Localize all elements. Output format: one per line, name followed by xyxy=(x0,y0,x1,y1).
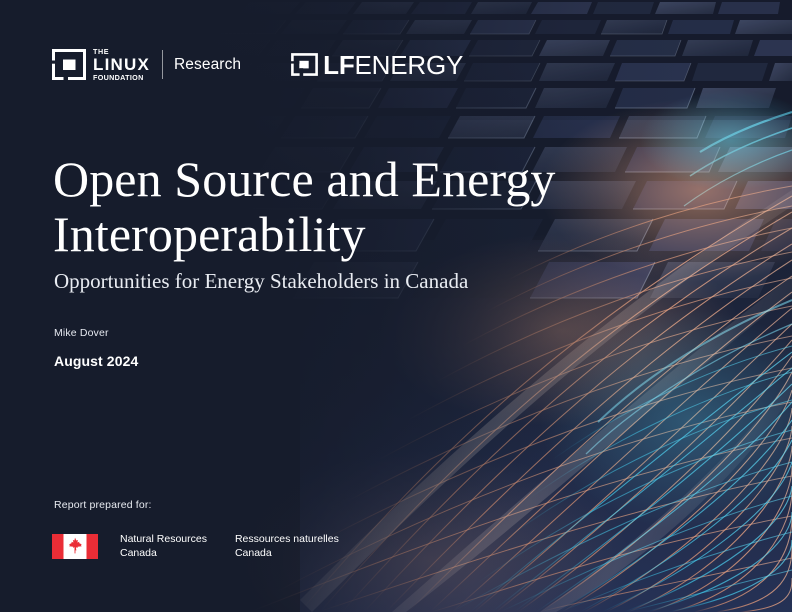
organization-en-line-1: Natural Resources xyxy=(120,533,207,547)
organization-fr-line-1: Ressources naturelles xyxy=(235,533,339,547)
prepared-for-label: Report prepared for: xyxy=(54,499,152,511)
lf-energy-word-energy: ENERGY xyxy=(355,50,464,80)
author-name: Mike Dover xyxy=(54,327,109,339)
page-title: Open Source and Energy Interoperability xyxy=(53,152,673,262)
canada-flag-icon xyxy=(52,534,98,559)
lf-energy-wordmark: LFENERGY xyxy=(323,52,463,78)
title-line-2: Interoperability xyxy=(53,206,366,262)
lf-energy-word-lf: LF xyxy=(323,50,354,80)
logo-row: THE LINUX FOUNDATION Research LFENERGY xyxy=(52,48,463,81)
linux-foundation-wordmark: THE LINUX FOUNDATION xyxy=(93,48,150,81)
government-of-canada-signature: Natural Resources Canada Ressources natu… xyxy=(52,533,339,561)
publication-date: August 2024 xyxy=(54,353,138,369)
lf-word-linux: LINUX xyxy=(93,56,150,73)
page-subtitle: Opportunities for Energy Stakeholders in… xyxy=(54,269,674,294)
report-cover-page: THE LINUX FOUNDATION Research LFENERGY xyxy=(0,0,792,612)
organization-name-en: Natural Resources Canada xyxy=(120,533,207,561)
linux-foundation-research-logo[interactable]: THE LINUX FOUNDATION Research xyxy=(52,48,241,81)
title-line-1: Open Source and Energy xyxy=(53,151,556,207)
organization-en-line-2: Canada xyxy=(120,547,207,561)
organization-fr-line-2: Canada xyxy=(235,547,339,561)
lf-energy-mark xyxy=(291,53,318,76)
logo-divider xyxy=(162,50,163,79)
lf-energy-logo[interactable]: LFENERGY xyxy=(291,52,463,78)
lf-word-foundation: FOUNDATION xyxy=(93,74,144,81)
lf-research-label: Research xyxy=(174,56,241,74)
organization-name-fr: Ressources naturelles Canada xyxy=(235,533,339,561)
linux-foundation-mark xyxy=(52,49,86,80)
lf-word-the: THE xyxy=(93,48,109,55)
wordmark-text: Natural Resources Canada Ressources natu… xyxy=(98,533,339,561)
